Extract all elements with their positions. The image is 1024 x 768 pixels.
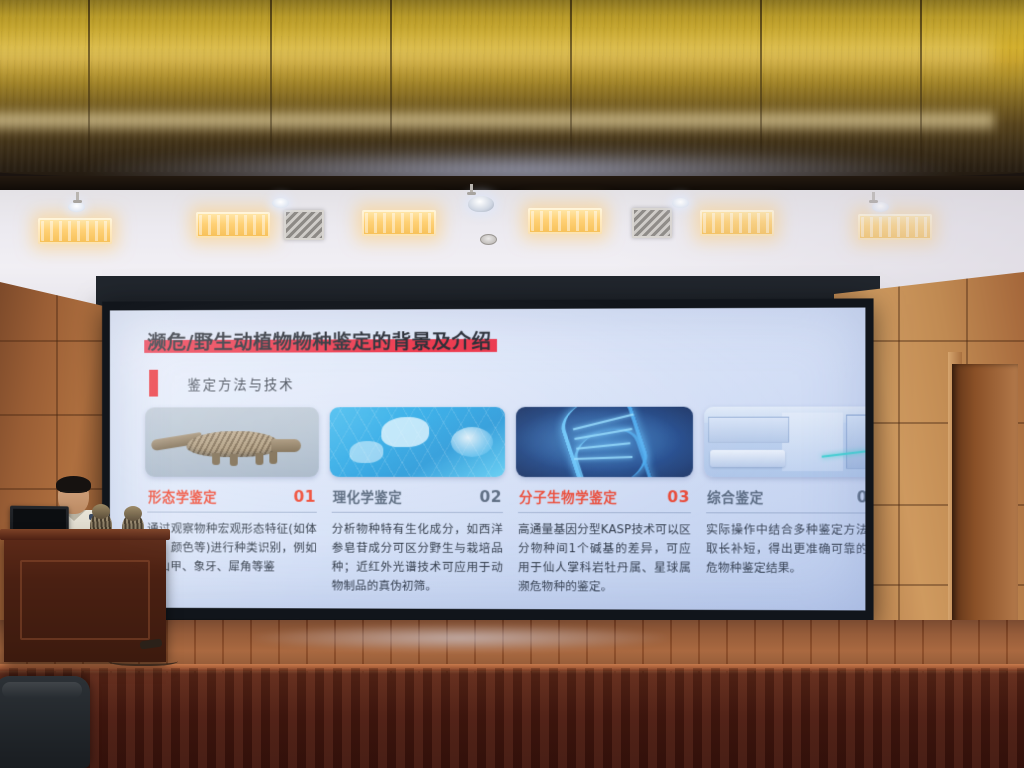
fire-sprinkler: [470, 184, 473, 193]
slide-subtitle: 鉴定方法与技术: [187, 373, 294, 393]
pangolin-photo: [145, 408, 319, 478]
card-title: 理化学鉴定: [333, 486, 403, 506]
card-divider: [147, 512, 317, 513]
presentation-slide: 濒危/野生动植物物种鉴定的背景及介绍 鉴定方法与技术: [110, 308, 866, 611]
fire-sprinkler: [76, 192, 79, 201]
subtitle-marker-icon: [149, 370, 158, 397]
card-title: 综合鉴定: [707, 487, 764, 507]
slide-title: 濒危/野生动植物物种鉴定的背景及介绍: [147, 331, 491, 354]
projection-screen-frame: 濒危/野生动植物物种鉴定的背景及介绍 鉴定方法与技术: [102, 298, 874, 621]
card-heading-03: 分子生物学鉴定 03: [516, 486, 693, 506]
stage-front-panel: [0, 668, 1024, 768]
method-card-01[interactable]: 形态学鉴定 01 通过观察物种宏观形态特征(如体型、颜色等)进行种类识别，例如穿…: [145, 408, 319, 595]
recessed-downlight: [672, 198, 689, 208]
ceiling-seam: [270, 0, 272, 170]
dna-helix-photo: [516, 407, 693, 477]
ceiling-air-vent: [632, 208, 672, 238]
podium-front-panel: [20, 560, 150, 640]
card-number: 04: [857, 489, 866, 507]
slide-subtitle-row: 鉴定方法与技术: [149, 369, 839, 397]
card-body-text: 高通量基因分型KASP技术可以区分物种间1个碱基的差异，可应用于仙人掌科岩牡丹属…: [516, 520, 693, 596]
ceiling-seam: [390, 0, 392, 170]
card-divider: [332, 512, 503, 513]
card-heading-01: 形态学鉴定 01: [145, 486, 319, 506]
recessed-downlight: [68, 202, 85, 212]
smoke-detector: [480, 234, 497, 245]
method-card-list: 形态学鉴定 01 通过观察物种宏观形态特征(如体型、颜色等)进行种类识别，例如穿…: [145, 407, 839, 597]
card-body-text: 通过观察物种宏观形态特征(如体型、颜色等)进行种类识别，例如穿山甲、象牙、犀角等…: [145, 520, 319, 576]
fire-sprinkler: [872, 192, 875, 201]
card-number: 02: [479, 488, 502, 506]
ceiling-highlight-upper: [0, 30, 994, 76]
ceiling-projector: [468, 196, 494, 212]
ceiling-seam: [920, 0, 922, 170]
laboratory-interior-photo: [704, 407, 865, 478]
presenter-glasses: [60, 491, 87, 497]
recessed-downlight: [272, 198, 289, 208]
laboratory-gloves-photo: [330, 407, 505, 477]
card-divider: [706, 513, 865, 514]
card-body-text: 实际操作中结合多种鉴定方法，取长补短，得出更准确可靠的濒危物种鉴定结果。: [704, 521, 865, 578]
audience-chair[interactable]: [0, 676, 90, 768]
card-number: 03: [667, 489, 690, 507]
card-heading-02: 理化学鉴定 02: [330, 486, 505, 506]
ceiling-seam: [760, 0, 762, 170]
slide-title-container: 濒危/野生动植物物种鉴定的背景及介绍: [147, 331, 491, 354]
podium-top-surface: [0, 529, 170, 540]
card-number: 01: [293, 488, 315, 506]
card-heading-04: 综合鉴定 04: [704, 487, 865, 507]
card-body-text: 分析物种特有生化成分，如西洋参皂苷成分可区分野生与栽培品种；近红外光谱技术可应用…: [330, 520, 505, 595]
ceiling-air-vent: [284, 210, 324, 240]
floor-cable: [108, 654, 178, 666]
ceiling-wood-grain: [0, 0, 1024, 172]
ceiling-seam: [88, 0, 90, 170]
method-card-02[interactable]: 理化学鉴定 02 分析物种特有生化成分，如西洋参皂苷成分可区分野生与栽培品种；近…: [330, 407, 505, 595]
ceiling-highlight-band: [0, 108, 994, 134]
conference-hall-scene: 濒危/野生动植物物种鉴定的背景及介绍 鉴定方法与技术: [0, 0, 1024, 768]
card-divider: [518, 512, 691, 513]
card-title: 形态学鉴定: [148, 486, 217, 506]
card-title: 分子生物学鉴定: [519, 486, 617, 506]
method-card-03[interactable]: 分子生物学鉴定 03 高通量基因分型KASP技术可以区分物种间1个碱基的差异，可…: [516, 407, 693, 596]
method-card-04[interactable]: 综合鉴定 04 实际操作中结合多种鉴定方法，取长补短，得出更准确可靠的濒危物种鉴…: [704, 407, 865, 597]
ceiling-seam: [570, 0, 572, 170]
stage-floor-reflection: [250, 624, 670, 652]
side-door[interactable]: [952, 364, 1018, 626]
recessed-downlight: [872, 202, 889, 212]
projection-screen[interactable]: 濒危/野生动植物物种鉴定的背景及介绍 鉴定方法与技术: [110, 308, 866, 611]
